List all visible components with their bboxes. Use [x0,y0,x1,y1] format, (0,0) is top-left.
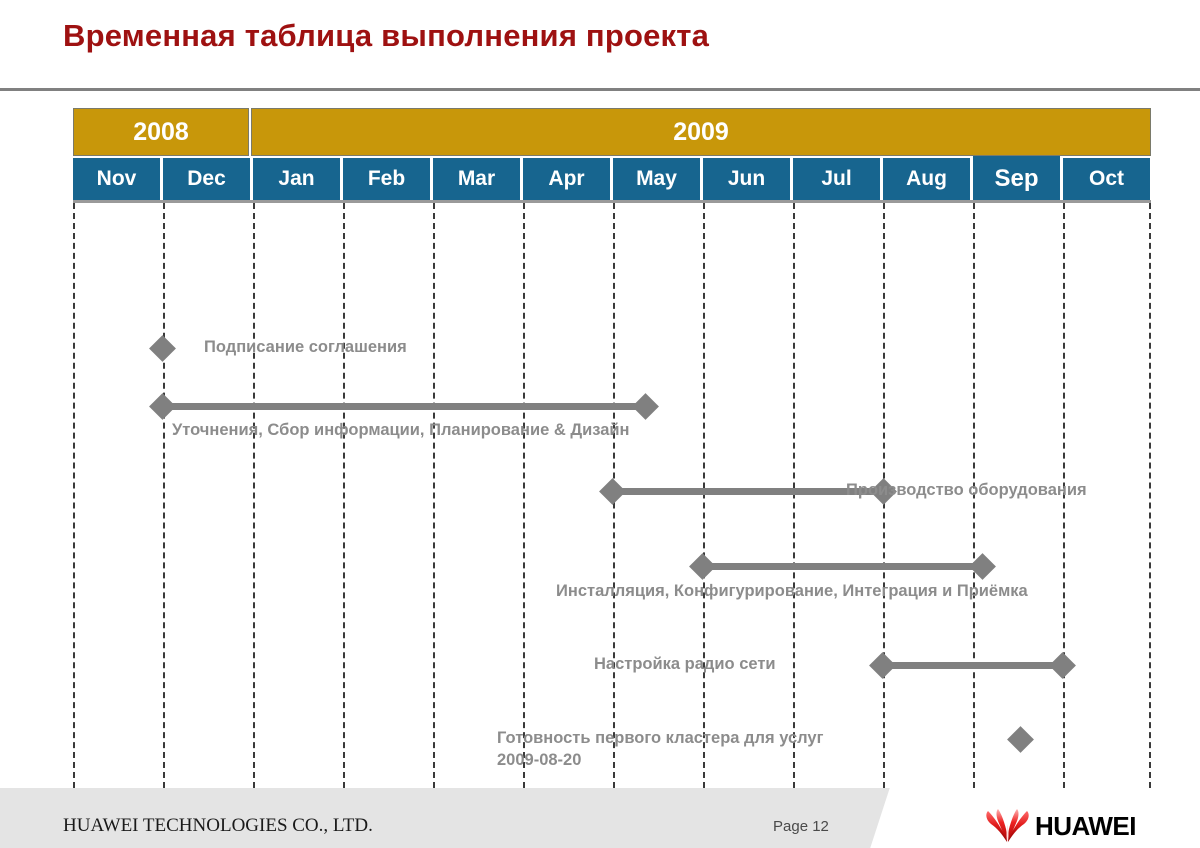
month-cell-oct: Oct [1063,158,1150,200]
task-label-survey-planning-design: Уточнения, Сбор информации, Планирование… [172,419,630,441]
gridline-nov [73,203,75,788]
gridline-jul [793,203,795,788]
month-cell-jul: Jul [793,158,880,200]
task-label-agreement-signing: Подписание соглашения [204,336,407,358]
milestone-diamond-first-cluster-ready[interactable] [1007,726,1034,753]
year-cell-2009: 2009 [251,108,1151,156]
month-cell-nov: Nov [73,158,160,200]
year-header-row: 2008 2009 [73,108,1151,156]
task-bar-installation-integration-acceptance[interactable] [703,563,983,570]
month-cell-mar: Mar [433,158,520,200]
gridline-jan [253,203,255,788]
year-cell-2008: 2008 [73,108,249,156]
task-label-radio-network-tuning: Настройка радио сети [594,653,776,675]
task-bar-equipment-manufacturing[interactable] [613,488,884,495]
month-cell-apr: Apr [523,158,610,200]
task-end-diamond-radio-network-tuning[interactable] [1049,652,1076,679]
gridline-apr [523,203,525,788]
gantt-chart: 2008 2009 Nov Dec Jan Feb Mar Apr May Ju… [73,108,1151,788]
task-bar-survey-planning-design[interactable] [163,403,646,410]
milestone-diamond-agreement-signing[interactable] [149,335,176,362]
title-divider [0,88,1200,91]
task-start-diamond-equipment-manufacturing[interactable] [599,478,626,505]
task-end-diamond-survey-planning-design[interactable] [632,393,659,420]
month-cell-jun: Jun [703,158,790,200]
month-cell-aug: Aug [883,158,970,200]
task-start-diamond-survey-planning-design[interactable] [149,393,176,420]
footer-page-number: Page 12 [773,818,829,835]
gridline-feb [343,203,345,788]
footer-company-name: HUAWEI TECHNOLOGIES CO., LTD. [63,815,373,837]
month-header-row: Nov Dec Jan Feb Mar Apr May Jun Jul Aug … [73,158,1151,200]
gridline-jun [703,203,705,788]
task-start-diamond-installation-integration-acceptance[interactable] [689,553,716,580]
task-date-first-cluster-ready: 2009-08-20 [497,749,581,771]
month-cell-may: May [613,158,700,200]
gridline-end [1149,203,1151,788]
huawei-flower-icon [985,808,1031,844]
task-label-first-cluster-ready: Готовность первого кластера для услуг [497,727,823,749]
gridline-mar [433,203,435,788]
task-start-diamond-radio-network-tuning[interactable] [869,652,896,679]
huawei-logo: HUAWEI [985,806,1150,846]
month-cell-jan: Jan [253,158,340,200]
gantt-plot-area: Подписание соглашения Уточнения, Сбор ин… [73,203,1151,788]
gridline-dec [163,203,165,788]
task-label-installation-integration-acceptance: Инсталляция, Конфигурирование, Интеграци… [556,580,1028,602]
month-cell-dec: Dec [163,158,250,200]
huawei-wordmark: HUAWEI [1035,811,1136,842]
task-bar-radio-network-tuning[interactable] [883,662,1063,669]
month-cell-sep: Sep [973,156,1060,201]
month-cell-feb: Feb [343,158,430,200]
page-title: Временная таблица выполнения проекта [63,18,709,54]
task-label-equipment-manufacturing: Производство оборудования [846,479,1087,501]
